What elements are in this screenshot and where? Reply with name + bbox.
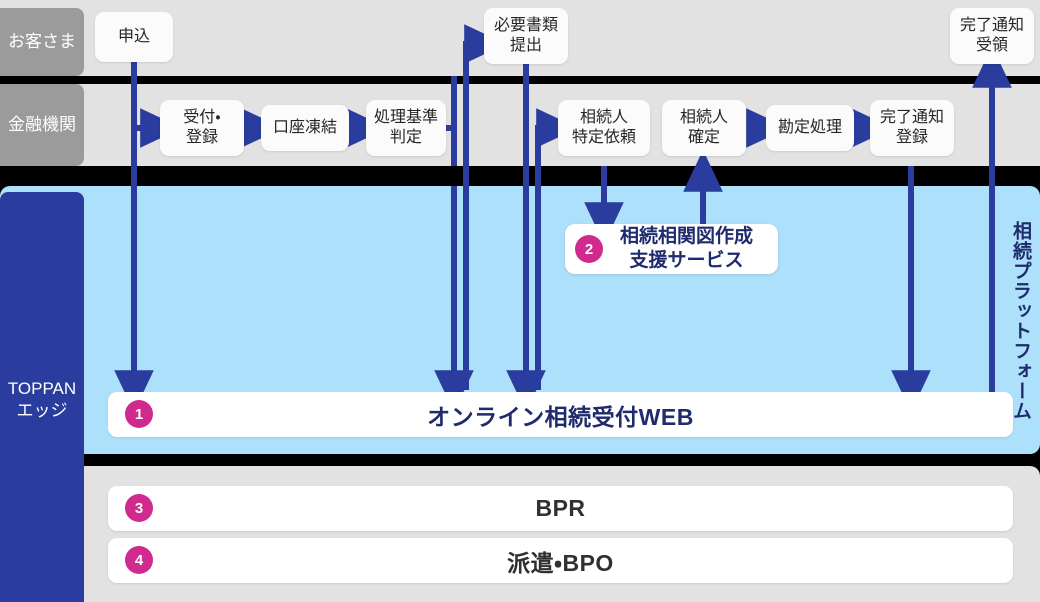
service-relationship-chart-line2: 支援サービス [603,249,770,273]
step-submit-documents[interactable]: 必要書類 提出 [484,8,568,64]
lane-label-toppan-line1: TOPPAN [0,378,84,400]
step-completion-notice-registration-line2: 登録 [896,128,928,148]
step-processing-criteria-line1: 処理基準 [374,108,438,128]
step-accounting-process[interactable]: 勘定処理 [766,105,854,151]
step-application[interactable]: 申込 [95,12,173,62]
step-completion-notice-registration[interactable]: 完了通知 登録 [870,100,954,156]
step-receive-completion-notice-line1: 完了通知 [960,16,1024,36]
lane-label-bank: 金融機関 [0,84,84,166]
step-heir-identification-request[interactable]: 相続人 特定依頼 [558,100,650,156]
step-application-label: 申込 [118,27,150,47]
step-processing-criteria[interactable]: 処理基準 判定 [366,100,446,156]
step-accounting-process-label: 勘定処理 [778,118,842,138]
service-badge-1: 1 [125,400,153,428]
service-relationship-chart-line1: 相続相関図作成 [603,225,770,249]
service-badge-4: 4 [125,546,153,574]
lane-label-toppan: TOPPAN エッジ [0,192,84,602]
step-account-freeze[interactable]: 口座凍結 [261,105,349,151]
service-relationship-chart-label: 相続相関図作成 支援サービス [603,225,778,273]
service-online-web-label: オンライン相続受付WEB [427,398,694,432]
step-completion-notice-registration-line1: 完了通知 [880,108,944,128]
lane-label-customer: お客さま [0,8,84,76]
step-heir-identification-request-line1: 相続人 [580,108,628,128]
step-heir-confirmation[interactable]: 相続人 確定 [662,100,746,156]
service-haken-bpo[interactable]: 派遣・BPO [108,538,1013,583]
step-reception-registration[interactable]: 受付・ 登録 [160,100,244,156]
step-submit-documents-line2: 提出 [510,36,542,56]
step-processing-criteria-line2: 判定 [390,128,422,148]
step-heir-confirmation-line2: 確定 [688,128,720,148]
service-relationship-chart[interactable]: 2 相続相関図作成 支援サービス [565,224,778,274]
service-haken-bpo-label: 派遣・BPO [507,544,614,578]
service-badge-2: 2 [575,235,603,263]
step-heir-confirmation-line1: 相続人 [680,108,728,128]
step-receive-completion-notice-line2: 受領 [976,36,1008,56]
service-online-web[interactable]: オンライン相続受付WEB [108,392,1013,437]
step-reception-registration-line2: 登録 [186,128,218,148]
step-reception-registration-line1: 受付・ [183,108,220,128]
step-heir-identification-request-line2: 特定依頼 [572,128,636,148]
service-bpr[interactable]: BPR [108,486,1013,531]
service-badge-3: 3 [125,494,153,522]
service-bpr-label: BPR [535,495,585,522]
step-receive-completion-notice[interactable]: 完了通知 受領 [950,8,1034,64]
step-account-freeze-label: 口座凍結 [273,118,337,138]
process-flow-diagram: お客さま 金融機関 TOPPAN エッジ 相続プラットフォーム [0,0,1040,602]
step-submit-documents-line1: 必要書類 [494,16,558,36]
lane-label-toppan-line2: エッジ [0,400,84,422]
